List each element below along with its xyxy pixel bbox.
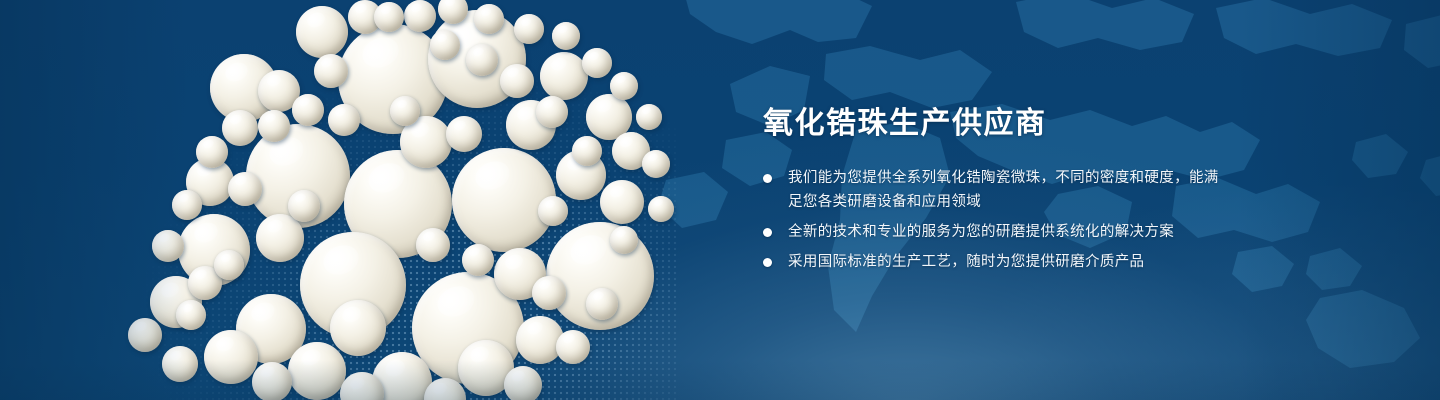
list-item-text: 采用国际标准的生产工艺，随时为您提供研磨介质产品: [788, 254, 1144, 270]
banner-headline: 氧化锆珠生产供应商: [763, 104, 1233, 144]
list-item: 采用国际标准的生产工艺，随时为您提供研磨介质产品: [763, 250, 1233, 274]
list-item: 我们能为您提供全系列氧化锆陶瓷微珠，不同的密度和硬度，能满足您各类研磨设备和应用…: [763, 166, 1233, 214]
bullet-dot-icon: [763, 228, 772, 237]
list-item-text: 全新的技术和专业的服务为您的研磨提供系统化的解决方案: [788, 224, 1174, 240]
bullet-dot-icon: [763, 258, 772, 267]
banner-copy: 氧化锆珠生产供应商 我们能为您提供全系列氧化锆陶瓷微珠，不同的密度和硬度，能满足…: [763, 104, 1233, 274]
hero-banner: 氧化锆珠生产供应商 我们能为您提供全系列氧化锆陶瓷微珠，不同的密度和硬度，能满足…: [0, 0, 1440, 400]
list-item-text: 我们能为您提供全系列氧化锆陶瓷微珠，不同的密度和硬度，能满足您各类研磨设备和应用…: [788, 170, 1219, 210]
banner-feature-list: 我们能为您提供全系列氧化锆陶瓷微珠，不同的密度和硬度，能满足您各类研磨设备和应用…: [763, 166, 1233, 274]
zirconia-beads-image: [0, 0, 760, 400]
list-item: 全新的技术和专业的服务为您的研磨提供系统化的解决方案: [763, 220, 1233, 244]
bullet-dot-icon: [763, 174, 772, 183]
